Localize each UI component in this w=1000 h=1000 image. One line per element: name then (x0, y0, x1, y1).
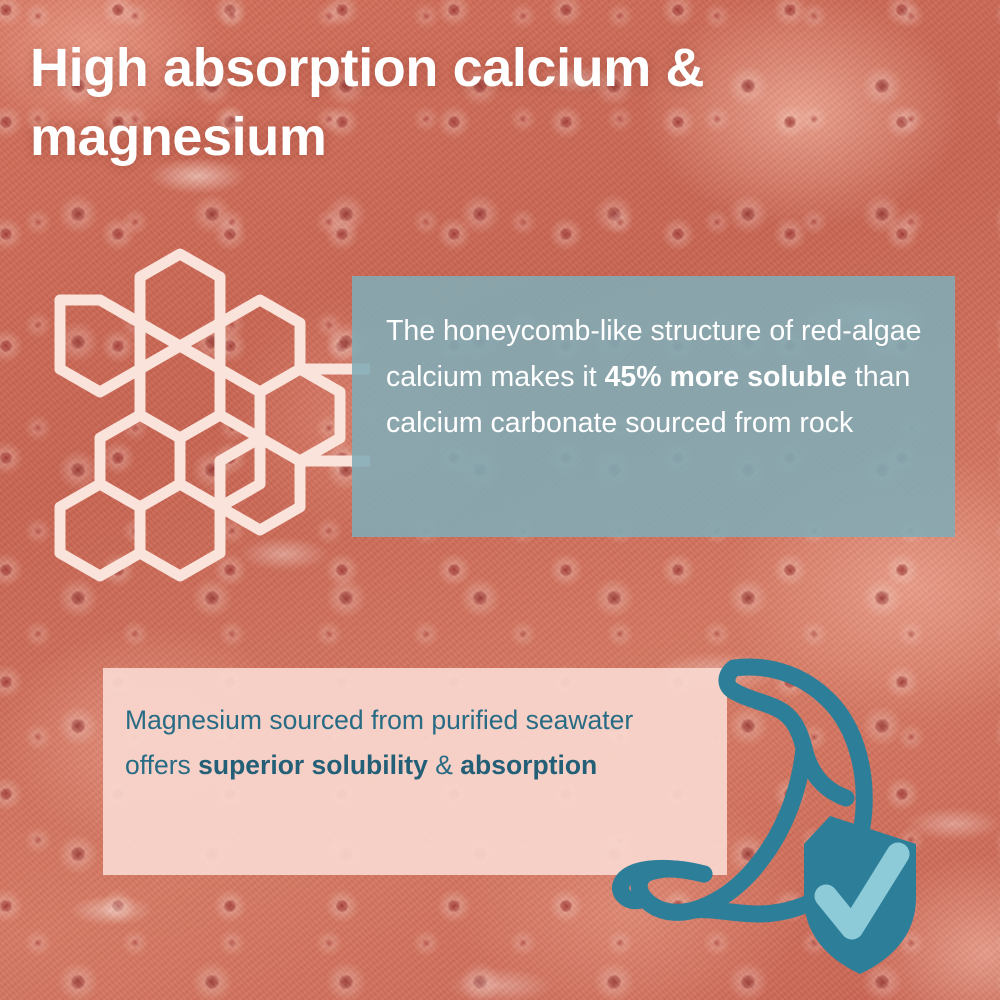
infographic-canvas: High absorption calcium & magnesium (0, 0, 1000, 1000)
magnesium-statement-part-3: & (428, 750, 460, 780)
page-title-line-1: High absorption calcium & (30, 38, 704, 98)
page-title: High absorption calcium & magnesium (30, 34, 900, 172)
magnesium-statement-highlight-1: superior solubility (198, 750, 428, 780)
calcium-statement-text: The honeycomb-like structure of red-alga… (386, 308, 925, 446)
page-title-line-2: magnesium (30, 107, 327, 167)
calcium-statement-card: The honeycomb-like structure of red-alga… (352, 276, 955, 537)
calcium-statement-highlight: 45% more soluble (605, 361, 847, 393)
honeycomb-icon (30, 240, 370, 600)
stomach-shield-icon (598, 648, 970, 988)
magnesium-statement-highlight-2: absorption (460, 750, 597, 780)
